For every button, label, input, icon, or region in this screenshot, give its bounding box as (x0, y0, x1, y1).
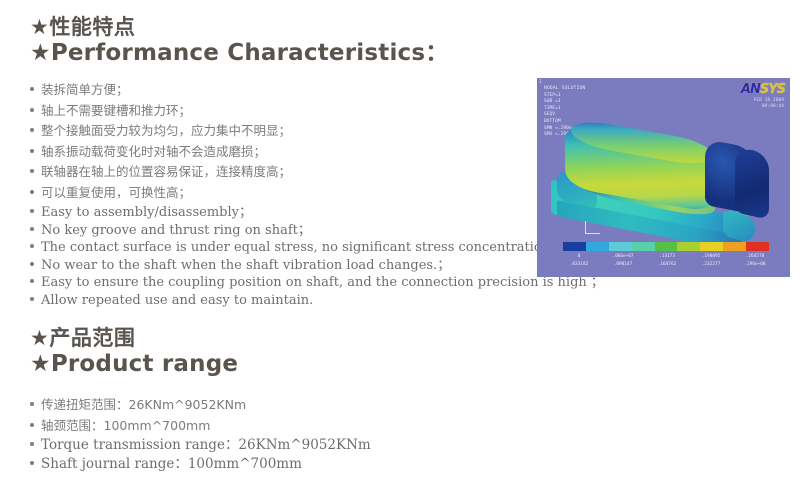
bullet-dot-icon (30, 169, 34, 173)
list-item-label: No key groove and thrust ring on shaft； (41, 222, 311, 240)
performance-bullets-cn: 装拆简单方便； 轴上不需要键槽和推力环； 整个接触面受力较为均匀，应力集中不明显… (30, 80, 291, 203)
legend-label: .264578 (733, 254, 777, 259)
legend-swatch (563, 242, 586, 251)
ansys-fea-stress-contour-image: 1 NODAL SOLUTION STEP=1 SUB =1 TIME=1 SE… (537, 78, 790, 277)
bullet-dot-icon (30, 297, 34, 301)
list-item-label: 轴系振动载荷变化时对轴不会造成磨损； (41, 142, 266, 163)
legend-swatch (655, 242, 678, 251)
list-item: Allow repeated use and easy to maintain. (30, 292, 604, 310)
legend-swatch (700, 242, 723, 251)
legend-label: .033182 (557, 262, 601, 267)
legend-swatch (609, 242, 632, 251)
bullet-dot-icon (30, 262, 34, 266)
bullet-dot-icon (30, 461, 34, 465)
list-item: 装拆简单方便； (30, 80, 291, 101)
product-range-heading-en: ★Product range (30, 350, 238, 379)
bullet-dot-icon (30, 423, 34, 427)
list-item-label: 整个接触面受力较为均匀，应力集中不明显； (41, 121, 291, 142)
product-range-bullets-en: Torque transmission range：26KNm^9052KNm … (30, 436, 371, 474)
legend-label: .232277 (689, 262, 733, 267)
list-item: Easy to assembly/disassembly； (30, 204, 604, 222)
legend-label: .164762 (645, 262, 689, 267)
product-range-heading-cn-text: ★产品范围 (30, 325, 135, 351)
legend-swatch (746, 242, 769, 251)
performance-heading-cn: ★性能特点 (30, 14, 135, 40)
legend-swatch (723, 242, 746, 251)
list-item: 轴上不需要键槽和推力环； (30, 101, 291, 122)
legend-label: 0 (557, 254, 601, 259)
performance-heading-cn-text: ★性能特点 (30, 14, 135, 40)
performance-heading-en-text: ★Performance Characteristics： (30, 39, 448, 68)
performance-heading-en: ★Performance Characteristics： (30, 39, 448, 68)
legend-swatch (632, 242, 655, 251)
list-item: 可以重复使用，可换性高； (30, 183, 291, 204)
list-item: No wear to the shaft when the shaft vibr… (30, 257, 604, 275)
list-item: The contact surface is under equal stres… (30, 239, 604, 257)
bullet-dot-icon (30, 87, 34, 91)
list-item: 轴颈范围：100mm^700mm (30, 415, 246, 436)
list-item-label: 联轴器在轴上的位置容易保证，连接精度高； (41, 162, 291, 183)
bullet-dot-icon (30, 108, 34, 112)
list-item-label: Easy to ensure the coupling position on … (41, 274, 604, 292)
product-range-bullets-cn: 传递扭矩范围：26KNm^9052KNm 轴颈范围：100mm^700mm (30, 394, 246, 436)
list-item-label: 传递扭矩范围：26KNm^9052KNm (41, 394, 246, 415)
legend-label: .13173 (645, 254, 689, 259)
list-item-label: Torque transmission range：26KNm^9052KNm (41, 436, 371, 455)
list-item-label: No wear to the shaft when the shaft vibr… (41, 257, 450, 275)
product-range-heading-cn: ★产品范围 (30, 325, 135, 351)
bullet-dot-icon (30, 402, 34, 406)
list-item: 联轴器在轴上的位置容易保证，连接精度高； (30, 162, 291, 183)
list-item-label: 轴颈范围：100mm^700mm (41, 415, 210, 436)
list-item: 整个接触面受力较为均匀，应力集中不明显； (30, 121, 291, 142)
legend-label: .198095 (689, 254, 733, 259)
bullet-dot-icon (30, 190, 34, 194)
model-axis-triad-icon (585, 221, 600, 234)
legend-label: .296e+08 (733, 262, 777, 267)
legend-label: .098147 (601, 262, 645, 267)
list-item: 传递扭矩范围：26KNm^9052KNm (30, 394, 246, 415)
bullet-dot-icon (30, 209, 34, 213)
bullet-dot-icon (30, 128, 34, 132)
list-item-label: Easy to assembly/disassembly； (41, 204, 252, 222)
list-item-label: The contact surface is under equal stres… (41, 239, 554, 257)
bullet-dot-icon (30, 149, 34, 153)
performance-bullets-en: Easy to assembly/disassembly； No key gro… (30, 204, 604, 310)
legend-label: .066e+07 (601, 254, 645, 259)
list-item-label: Shaft journal range：100mm^700mm (41, 455, 302, 474)
legend-swatch (677, 242, 700, 251)
list-item: Shaft journal range：100mm^700mm (30, 455, 371, 474)
product-range-heading-en-text: ★Product range (30, 350, 238, 379)
list-item: Torque transmission range：26KNm^9052KNm (30, 436, 371, 455)
list-item: Easy to ensure the coupling position on … (30, 274, 604, 292)
model-cap-face (735, 146, 769, 220)
bullet-dot-icon (30, 227, 34, 231)
bullet-dot-icon (30, 442, 34, 446)
legend-labels-upper: 0 .066e+07 .13173 .198095 .264578 (557, 254, 777, 259)
list-item-label: 装拆简单方便； (41, 80, 129, 101)
list-item: 轴系振动载荷变化时对轴不会造成磨损； (30, 142, 291, 163)
stress-colorbar-legend (563, 242, 769, 251)
bullet-dot-icon (30, 244, 34, 248)
list-item-label: 轴上不需要键槽和推力环； (41, 101, 191, 122)
list-item: No key groove and thrust ring on shaft； (30, 222, 604, 240)
legend-swatch (586, 242, 609, 251)
bullet-dot-icon (30, 279, 34, 283)
list-item-label: Allow repeated use and easy to maintain. (41, 292, 313, 310)
legend-labels-lower: .033182 .098147 .164762 .232277 .296e+08 (557, 262, 777, 267)
list-item-label: 可以重复使用，可换性高； (41, 183, 191, 204)
